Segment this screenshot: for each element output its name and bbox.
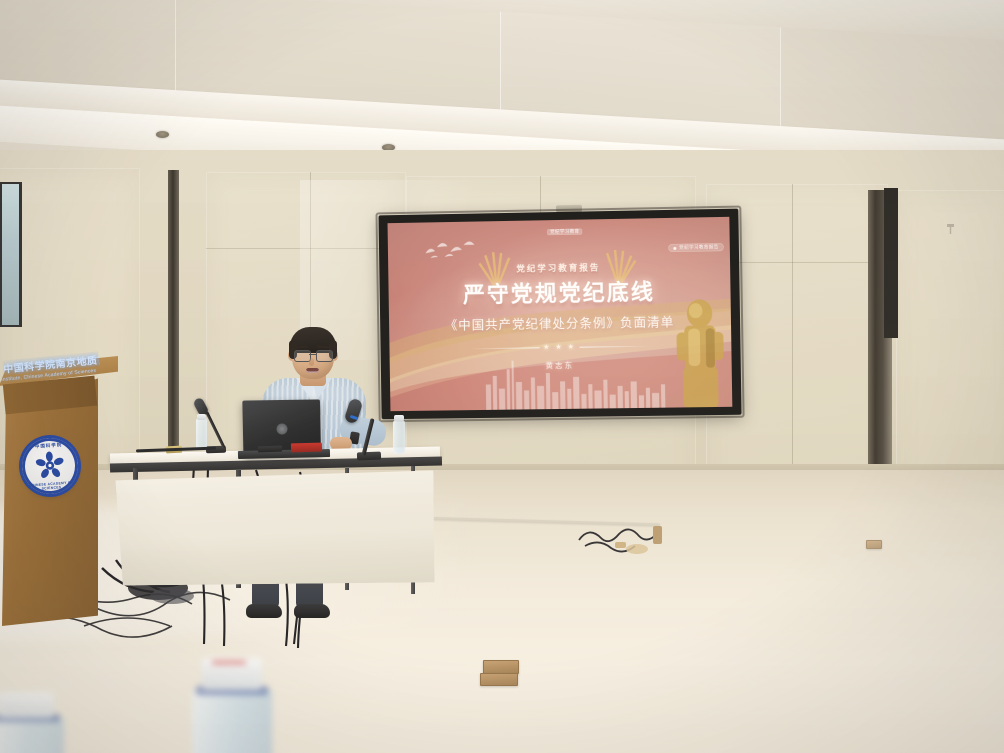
slide-surface: 党纪学习教育 党纪学习教育报告 党纪学习教育报告 严守党规党纪底线 《中国共产党… bbox=[388, 217, 733, 411]
bottle-body bbox=[192, 688, 272, 753]
eyeglasses-right-lens bbox=[316, 350, 333, 362]
divider-line-left bbox=[469, 347, 539, 349]
nose bbox=[309, 358, 314, 366]
power-strip bbox=[258, 446, 282, 453]
emblem-flower-icon bbox=[34, 450, 66, 482]
window-glass bbox=[2, 184, 19, 325]
slide-burst-graphic bbox=[595, 247, 642, 288]
slide-burst-graphic bbox=[473, 249, 519, 290]
chip-label: 党纪学习教育报告 bbox=[679, 244, 719, 251]
projection-screen[interactable]: 党纪学习教育 党纪学习教育报告 党纪学习教育报告 严守党规党纪底线 《中国共产党… bbox=[378, 209, 741, 420]
laptop-logo-icon bbox=[276, 424, 287, 435]
shoe bbox=[294, 604, 330, 618]
slide-top-tag: 党纪学习教育 bbox=[547, 229, 582, 236]
slide-presenter-name: 黄志东 bbox=[390, 358, 732, 374]
floor-cable-coil bbox=[575, 520, 685, 556]
eyeglasses-bridge bbox=[309, 354, 316, 355]
presenter-table-front bbox=[115, 470, 434, 585]
chip-dot-icon bbox=[673, 246, 676, 249]
window-frame bbox=[884, 188, 898, 338]
floor-block bbox=[480, 673, 518, 686]
water-bottle-foreground bbox=[186, 650, 278, 753]
photo-scene: 党纪学习教育 党纪学习教育报告 党纪学习教育报告 严守党规党纪底线 《中国共产党… bbox=[0, 0, 1004, 753]
slide-kicker: 党纪学习教育报告 bbox=[388, 259, 730, 277]
bottle-cap bbox=[0, 692, 54, 718]
water-bottle-table-right bbox=[393, 420, 405, 454]
slide-divider: ★ ★ ★ bbox=[389, 339, 731, 354]
floor-block bbox=[483, 660, 519, 674]
institute-emblem: 中国科学院 CHINESE ACADEMY OF SCIENCES bbox=[20, 436, 80, 496]
water-bottle-cap bbox=[394, 415, 404, 421]
slide-title: 严守党规党纪底线 bbox=[388, 273, 730, 311]
slide-statue-graphic bbox=[670, 294, 730, 407]
slide-subtitle: 《中国共产党纪律处分条例》负面清单 bbox=[389, 310, 731, 334]
door-gap bbox=[168, 170, 179, 490]
slide-ribbon-graphic bbox=[388, 296, 733, 411]
divider-stars: ★ ★ ★ bbox=[543, 343, 576, 351]
water-bottle-table bbox=[196, 418, 207, 450]
slide-corner-chip[interactable]: 党纪学习教育报告 bbox=[668, 243, 724, 252]
slide-dove-graphic bbox=[422, 238, 480, 265]
shoe bbox=[246, 604, 282, 618]
red-label-card bbox=[291, 443, 322, 453]
bottle-cap-stripe bbox=[212, 661, 246, 664]
water-bottle-foreground-2 bbox=[0, 690, 70, 753]
floor-block bbox=[866, 540, 882, 549]
mouth bbox=[306, 368, 319, 373]
slide-glow bbox=[388, 217, 733, 411]
slide-skyline-graphic bbox=[389, 342, 732, 411]
divider-line-right bbox=[580, 345, 650, 347]
microphone-base-right bbox=[357, 452, 381, 461]
ceiling-downlight-icon bbox=[156, 131, 169, 138]
water-bottle-cap bbox=[197, 414, 206, 420]
